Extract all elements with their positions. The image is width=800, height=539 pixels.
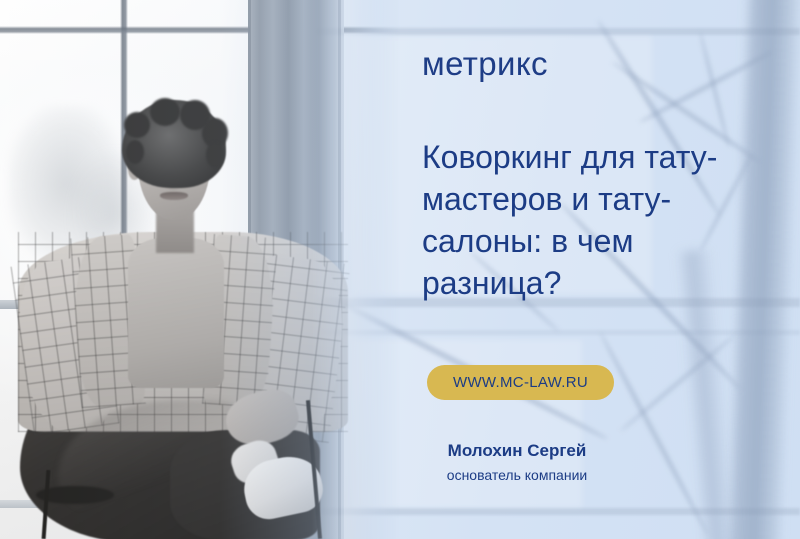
author-name: Молохин Сергей — [422, 440, 612, 462]
content-layer: метрикс Коворкинг для тату-мастеров и та… — [0, 0, 800, 539]
headline-text: Коворкинг для тату-мастеров и тату-салон… — [422, 136, 762, 304]
brand-logo: метрикс — [422, 44, 548, 84]
author-role: основатель компании — [422, 464, 612, 486]
author-block: Молохин Сергей основатель компании — [422, 440, 612, 486]
promo-banner: метрикс Коворкинг для тату-мастеров и та… — [0, 0, 800, 539]
website-cta-button[interactable]: WWW.MC-LAW.RU — [427, 365, 614, 400]
